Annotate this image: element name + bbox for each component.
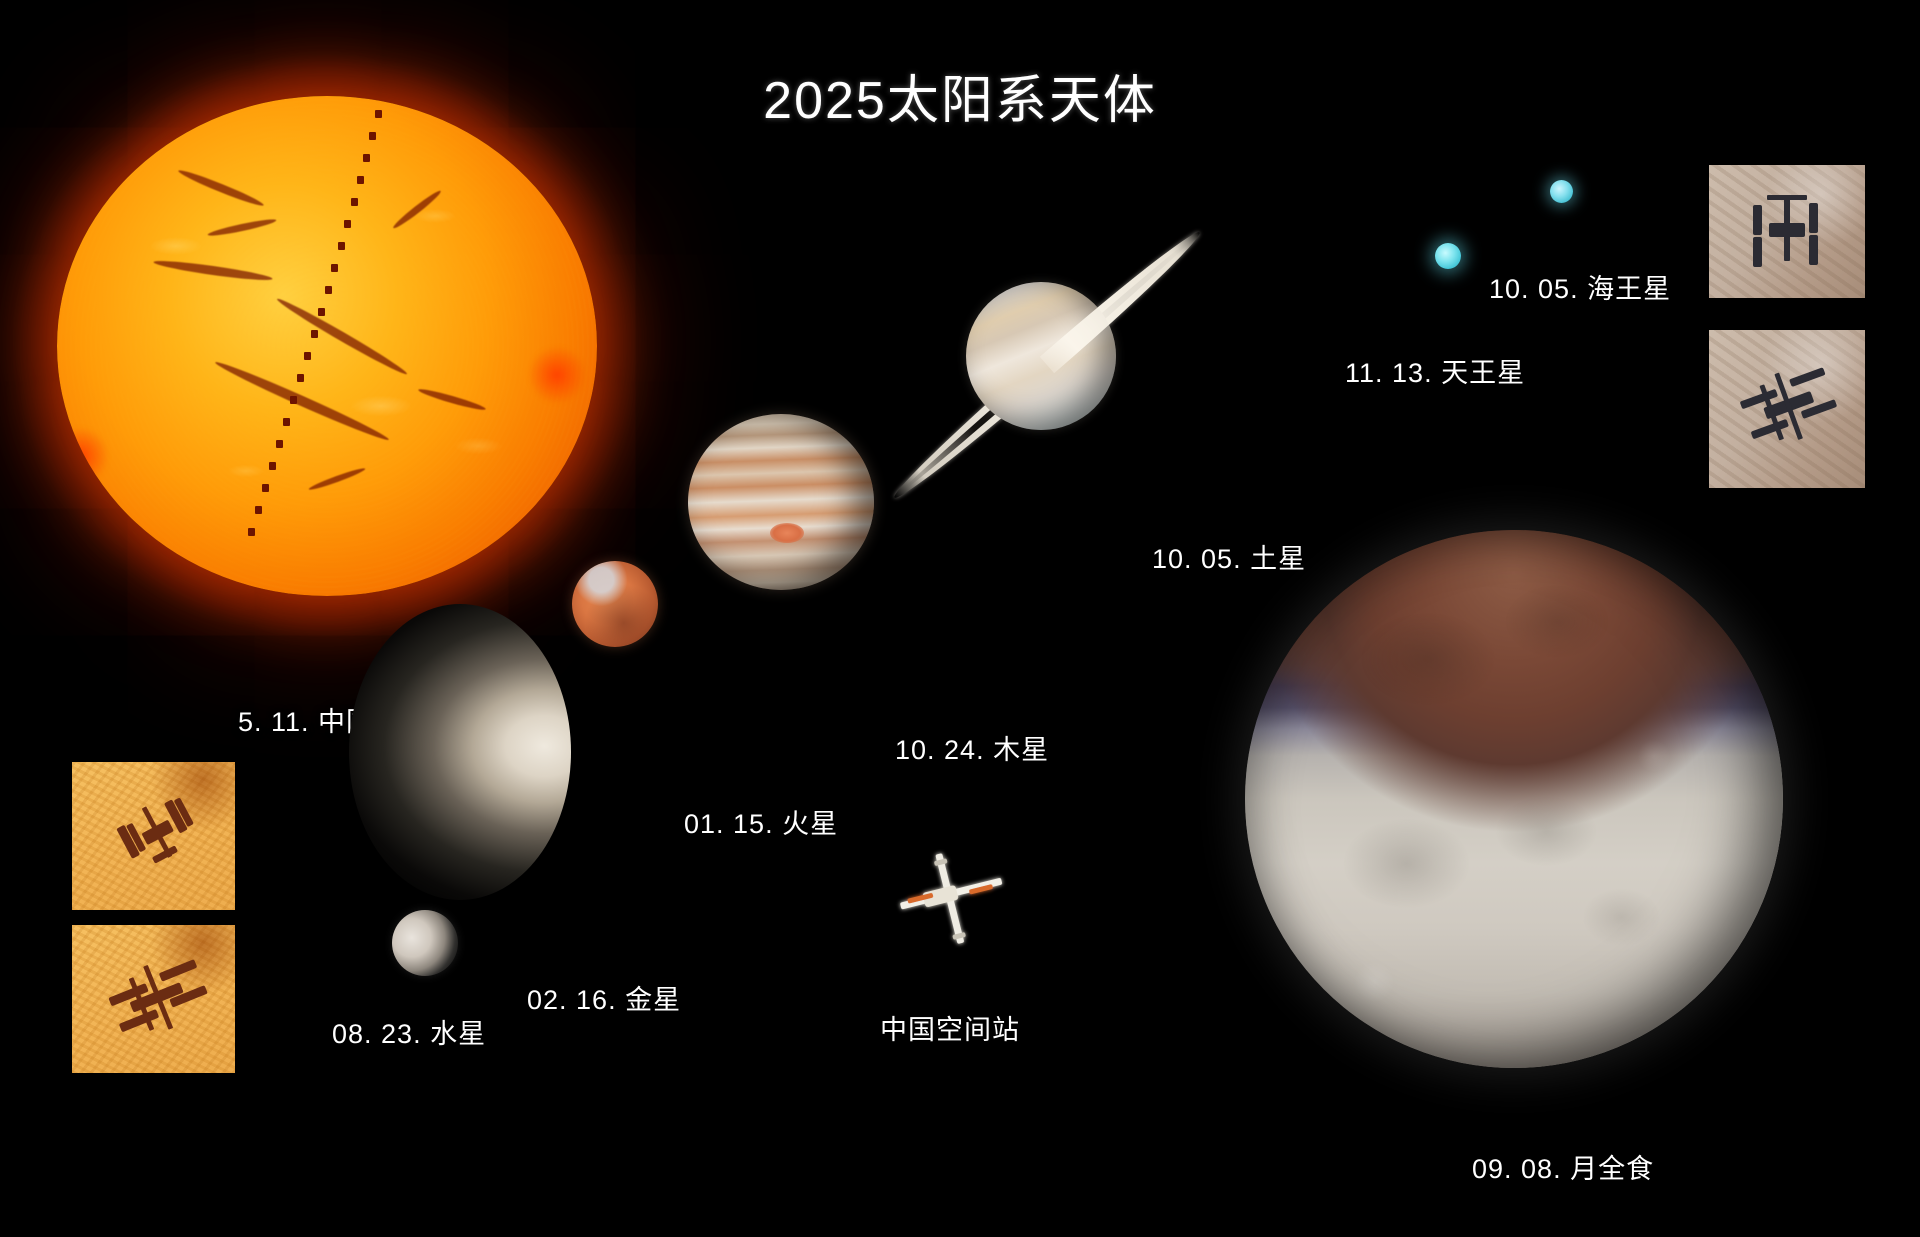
inset-space-station-on-sun-top xyxy=(72,762,235,910)
space-station-icon xyxy=(72,762,235,910)
label-jupiter: 10. 24. 木星 xyxy=(895,737,1049,764)
sun-granulation-texture xyxy=(57,96,597,596)
neptune-image xyxy=(1550,180,1573,203)
saturn-image xyxy=(882,200,1212,530)
jupiter-image xyxy=(688,414,874,590)
inset-space-station-on-moon-bottom xyxy=(1709,330,1865,488)
venus-crescent xyxy=(349,604,571,900)
label-space-station: 中国空间站 xyxy=(880,1017,1020,1044)
space-station-icon xyxy=(1709,165,1865,298)
space-station-icon xyxy=(72,925,235,1073)
poster-canvas: 2025太阳系天体 xyxy=(0,0,1920,1237)
label-mercury: 08. 23. 水星 xyxy=(332,1021,486,1048)
lunar-limb-shading xyxy=(1245,530,1783,1068)
label-venus: 02. 16. 金星 xyxy=(527,987,681,1014)
sun-prominence xyxy=(63,140,133,192)
venus-image xyxy=(423,604,571,900)
label-lunar-eclipse: 09. 08. 月全食 xyxy=(1472,1156,1654,1183)
mercury-image xyxy=(392,910,458,976)
great-red-spot xyxy=(770,523,804,543)
space-station-image xyxy=(888,842,1016,952)
sun-prominence xyxy=(527,346,587,404)
label-saturn: 10. 05. 土星 xyxy=(1152,546,1306,573)
uranus-image xyxy=(1435,243,1461,269)
lunar-eclipse-image xyxy=(1245,530,1783,1068)
inset-space-station-on-sun-bottom xyxy=(72,925,235,1073)
space-station-icon xyxy=(1709,330,1865,488)
label-neptune: 10. 05. 海王星 xyxy=(1489,276,1671,303)
sun-image xyxy=(57,96,597,596)
mars-image xyxy=(572,561,658,647)
space-station-icon xyxy=(888,842,1016,952)
label-mars: 01. 15. 火星 xyxy=(684,811,838,838)
inset-space-station-on-moon-top xyxy=(1709,165,1865,298)
sun-disk xyxy=(57,96,597,596)
label-uranus: 11. 13. 天王星 xyxy=(1345,360,1525,387)
